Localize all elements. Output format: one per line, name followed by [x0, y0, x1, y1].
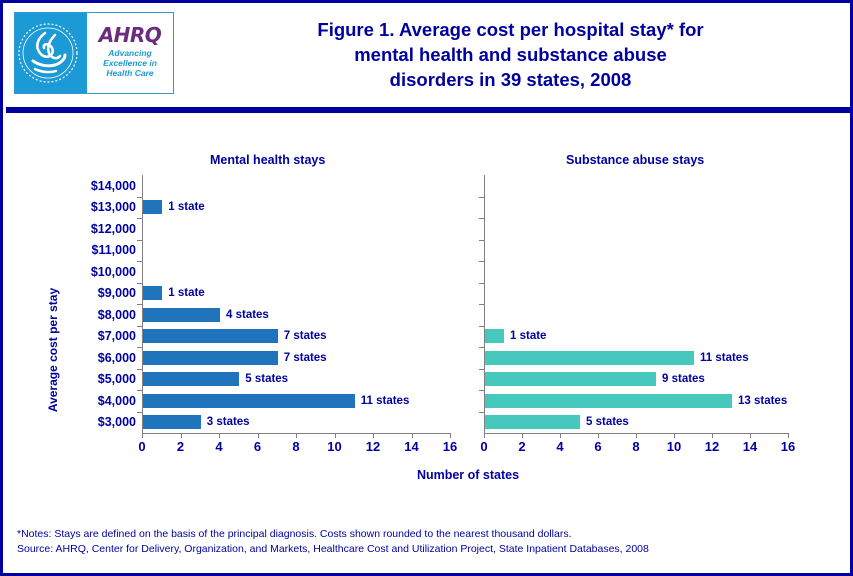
- bar-value-label: 7 states: [284, 351, 327, 365]
- ahrq-wordmark: AHRQ Advancing Excellence in Health Care: [87, 13, 173, 93]
- bar: [143, 394, 355, 408]
- y-axis-tick-label: $13,000: [62, 200, 136, 214]
- y-axis-tick: [137, 197, 142, 198]
- x-axis-tick: [258, 433, 259, 438]
- bar-value-label: 7 states: [284, 329, 327, 343]
- ahrq-acronym: AHRQ: [99, 25, 162, 46]
- bar-value-label: 1 state: [510, 329, 546, 343]
- x-axis-tick-label: 2: [166, 439, 196, 454]
- x-axis-tick-label: 12: [358, 439, 388, 454]
- y-axis-tick: [479, 369, 484, 370]
- x-axis-tick-label: 14: [397, 439, 427, 454]
- x-axis-title: Number of states: [303, 468, 633, 482]
- bar: [485, 394, 732, 408]
- bar-value-label: 5 states: [245, 372, 288, 386]
- x-axis-tick: [142, 433, 143, 438]
- ahrq-tagline-line3: Health Care: [106, 68, 153, 78]
- y-axis-tick-label: $9,000: [62, 286, 136, 300]
- chart-mental-health-stays: 02468101214161 state1 state4 states7 sta…: [142, 175, 450, 433]
- bar-value-label: 11 states: [361, 394, 410, 408]
- y-axis-tick: [137, 261, 142, 262]
- y-axis-tick: [137, 390, 142, 391]
- y-axis-tick: [479, 197, 484, 198]
- chart-substance-abuse-stays: 02468101214161 state11 states9 states13 …: [484, 175, 788, 433]
- y-axis-tick: [479, 412, 484, 413]
- y-axis-tick-label: $4,000: [62, 394, 136, 408]
- x-axis-tick: [712, 433, 713, 438]
- bar-value-label: 1 state: [168, 286, 204, 300]
- ahrq-tagline-line1: Advancing: [108, 48, 151, 58]
- ahrq-logo: AHRQ Advancing Excellence in Health Care: [14, 12, 174, 94]
- y-axis-tick: [479, 283, 484, 284]
- x-axis-tick: [522, 433, 523, 438]
- x-axis-tick-label: 4: [545, 439, 575, 454]
- y-axis-tick: [137, 326, 142, 327]
- y-axis-tick: [479, 261, 484, 262]
- bar: [143, 286, 162, 300]
- x-axis-tick: [181, 433, 182, 438]
- x-axis-tick-label: 16: [435, 439, 465, 454]
- hhs-seal-icon: [15, 13, 87, 93]
- footnote-notes: *Notes: Stays are defined on the basis o…: [17, 527, 837, 542]
- x-axis-tick-label: 2: [507, 439, 537, 454]
- y-axis-tick: [479, 304, 484, 305]
- x-axis-tick-label: 8: [281, 439, 311, 454]
- panel-title-substance-abuse: Substance abuse stays: [566, 153, 704, 167]
- x-axis-tick-label: 10: [320, 439, 350, 454]
- x-axis-tick: [335, 433, 336, 438]
- x-axis-tick-label: 6: [243, 439, 273, 454]
- y-axis-tick: [137, 304, 142, 305]
- x-axis-tick: [636, 433, 637, 438]
- x-axis-tick-label: 12: [697, 439, 727, 454]
- bar: [485, 415, 580, 429]
- y-axis-tick: [137, 347, 142, 348]
- x-axis-tick: [484, 433, 485, 438]
- bar: [143, 415, 201, 429]
- ahrq-tagline: Advancing Excellence in Health Care: [103, 48, 157, 78]
- x-axis-tick: [750, 433, 751, 438]
- y-axis-title: Average cost per stay: [46, 270, 60, 430]
- figure-page: AHRQ Advancing Excellence in Health Care…: [0, 0, 853, 576]
- y-axis-tick: [479, 240, 484, 241]
- y-axis-tick: [137, 369, 142, 370]
- ahrq-tagline-line2: Excellence in: [103, 58, 157, 68]
- bar-value-label: 5 states: [586, 415, 629, 429]
- x-axis-tick-label: 16: [773, 439, 803, 454]
- bar: [485, 351, 694, 365]
- x-axis-tick: [373, 433, 374, 438]
- figure-title-line-2: mental health and substance abuse: [183, 42, 838, 67]
- y-axis-tick-label: $7,000: [62, 329, 136, 343]
- bar: [143, 329, 278, 343]
- bar-value-label: 11 states: [700, 351, 749, 365]
- x-axis-tick: [412, 433, 413, 438]
- bar: [143, 200, 162, 214]
- y-axis-tick-label: $6,000: [62, 351, 136, 365]
- x-axis-tick-label: 0: [127, 439, 157, 454]
- y-axis-tick-label: $12,000: [62, 222, 136, 236]
- bar-value-label: 4 states: [226, 308, 269, 322]
- y-axis-tick: [479, 347, 484, 348]
- y-axis-tick: [479, 218, 484, 219]
- y-axis-tick-label: $10,000: [62, 265, 136, 279]
- x-axis-tick-label: 6: [583, 439, 613, 454]
- x-axis-tick-label: 14: [735, 439, 765, 454]
- y-axis-tick: [137, 283, 142, 284]
- bar: [143, 372, 239, 386]
- y-axis-tick: [137, 412, 142, 413]
- y-axis-tick-labels: $14,000$13,000$12,000$11,000$10,000$9,00…: [60, 175, 136, 433]
- bar-value-label: 3 states: [207, 415, 250, 429]
- x-axis-tick: [598, 433, 599, 438]
- bar-value-label: 13 states: [738, 394, 787, 408]
- x-axis-tick-label: 8: [621, 439, 651, 454]
- panel-title-mental-health: Mental health stays: [210, 153, 325, 167]
- bar: [143, 351, 278, 365]
- x-axis-tick-label: 10: [659, 439, 689, 454]
- figure-title-line-1: Figure 1. Average cost per hospital stay…: [183, 17, 838, 42]
- y-axis-tick: [479, 390, 484, 391]
- figure-title: Figure 1. Average cost per hospital stay…: [183, 17, 838, 92]
- x-axis-tick: [296, 433, 297, 438]
- x-axis-tick-label: 4: [204, 439, 234, 454]
- figure-title-line-3: disorders in 39 states, 2008: [183, 67, 838, 92]
- x-axis-tick-label: 0: [469, 439, 499, 454]
- bar-value-label: 9 states: [662, 372, 705, 386]
- bar: [485, 329, 504, 343]
- y-axis-tick-label: $8,000: [62, 308, 136, 322]
- y-axis-tick-label: $3,000: [62, 415, 136, 429]
- x-axis-tick: [450, 433, 451, 438]
- y-axis-tick-label: $14,000: [62, 179, 136, 193]
- x-axis-tick: [560, 433, 561, 438]
- y-axis-tick: [137, 218, 142, 219]
- bar-value-label: 1 state: [168, 200, 204, 214]
- footnote-source: Source: AHRQ, Center for Delivery, Organ…: [17, 542, 837, 557]
- figure-footnotes: *Notes: Stays are defined on the basis o…: [17, 527, 837, 557]
- y-axis-tick: [479, 326, 484, 327]
- x-axis-tick: [674, 433, 675, 438]
- x-axis-tick: [219, 433, 220, 438]
- figure-body: Mental health stays Substance abuse stay…: [3, 113, 850, 513]
- figure-header: AHRQ Advancing Excellence in Health Care…: [3, 3, 850, 107]
- y-axis-tick: [137, 240, 142, 241]
- y-axis-tick-label: $5,000: [62, 372, 136, 386]
- bar: [485, 372, 656, 386]
- y-axis-tick-label: $11,000: [62, 243, 136, 257]
- bar: [143, 308, 220, 322]
- x-axis-tick: [788, 433, 789, 438]
